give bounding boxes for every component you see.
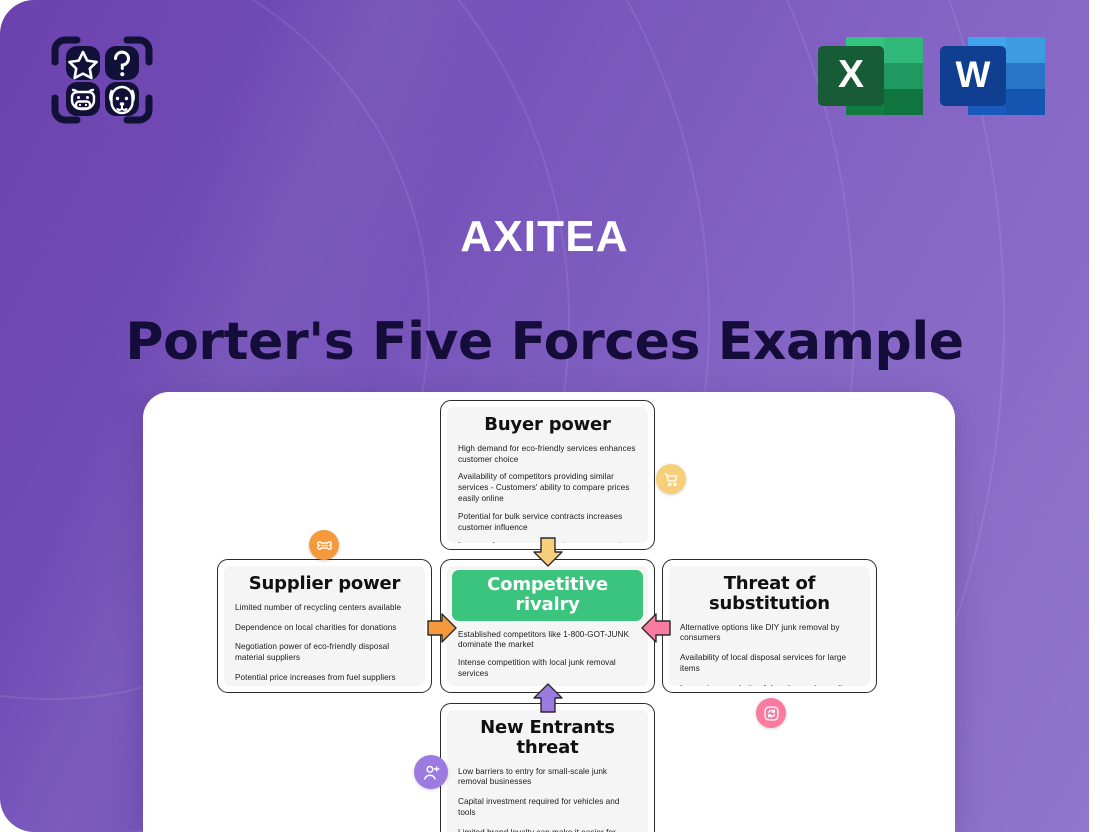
- svg-text:X: X: [838, 53, 864, 96]
- force-point: Potential for bulk service contracts inc…: [458, 512, 637, 534]
- arrow-buyer-to-rivalry: [529, 536, 567, 573]
- force-point: Intense competition with local junk remo…: [458, 658, 637, 680]
- arrow-supplier-to-rivalry: [426, 609, 458, 652]
- force-point: Capital investment required for vehicles…: [458, 797, 637, 819]
- add-user-icon: [422, 763, 441, 782]
- force-point: Established competitors like 1-800-GOT-J…: [458, 630, 637, 652]
- force-box-entrants[interactable]: New Entrants threat Low barriers to entr…: [440, 703, 655, 832]
- force-box-buyer[interactable]: Buyer power High demand for eco-friendly…: [440, 400, 655, 550]
- pet-quiz-logo-icon: [47, 30, 157, 130]
- force-point: Potential price increases from fuel supp…: [235, 673, 414, 684]
- force-point: High demand for eco-friendly services en…: [458, 444, 637, 466]
- badge-buyer[interactable]: [656, 464, 686, 494]
- badge-supplier[interactable]: [309, 530, 339, 560]
- force-title-entrants: New Entrants threat: [458, 718, 637, 758]
- force-point: Alternative options like DIY junk remova…: [680, 623, 859, 645]
- bone-icon: [316, 537, 333, 554]
- force-point: Dependence on local charities for donati…: [235, 623, 414, 634]
- force-title-buyer: Buyer power: [458, 415, 637, 435]
- force-point: Limited number of recycling centers avai…: [235, 603, 414, 614]
- page-title: Porter's Five Forces Example: [0, 312, 1089, 372]
- force-point: Availability of local disposal services …: [680, 653, 859, 675]
- force-box-substitution[interactable]: Threat of substitution Alternative optio…: [662, 559, 877, 693]
- force-point: Increasing popularity of donation and re…: [680, 684, 859, 686]
- brand-kicker: AXITEA: [0, 212, 1089, 262]
- word-icon[interactable]: W: [940, 31, 1045, 126]
- arrow-entrants-to-rivalry: [529, 682, 567, 719]
- svg-text:W: W: [956, 54, 991, 95]
- hero-panel: X W AXITEA Porter's Five Forces Example …: [0, 0, 1089, 832]
- force-point: Availability of competitors providing si…: [458, 472, 637, 504]
- force-box-supplier[interactable]: Supplier power Limited number of recycli…: [217, 559, 432, 693]
- force-points-buyer: High demand for eco-friendly services en…: [458, 444, 637, 543]
- force-box-rivalry[interactable]: Competitive rivalry Established competit…: [440, 559, 655, 693]
- badge-substitution[interactable]: [756, 698, 786, 728]
- diagram-board: Buyer power High demand for eco-friendly…: [143, 392, 955, 832]
- force-points-rivalry: Established competitors like 1-800-GOT-J…: [458, 630, 637, 686]
- excel-icon[interactable]: X: [818, 31, 923, 126]
- force-points-supplier: Limited number of recycling centers avai…: [235, 603, 414, 686]
- force-points-substitution: Alternative options like DIY junk remova…: [680, 623, 859, 686]
- force-points-entrants: Low barriers to entry for small-scale ju…: [458, 767, 637, 832]
- badge-entrants[interactable]: [414, 755, 448, 789]
- force-point: Low barriers to entry for small-scale ju…: [458, 767, 637, 789]
- force-point: Limited brand loyalty can make it easier…: [458, 828, 637, 832]
- refresh-swap-icon: [763, 705, 780, 722]
- force-title-rivalry: Competitive rivalry: [452, 570, 643, 621]
- force-point: Negotiation power of eco-friendly dispos…: [235, 642, 414, 664]
- force-title-substitution: Threat of substitution: [680, 574, 859, 614]
- screenshot-root: X W AXITEA Porter's Five Forces Example …: [0, 0, 1100, 832]
- arrow-substitution-to-rivalry: [640, 609, 672, 652]
- force-title-supplier: Supplier power: [235, 574, 414, 594]
- shopping-cart-icon: [663, 471, 680, 488]
